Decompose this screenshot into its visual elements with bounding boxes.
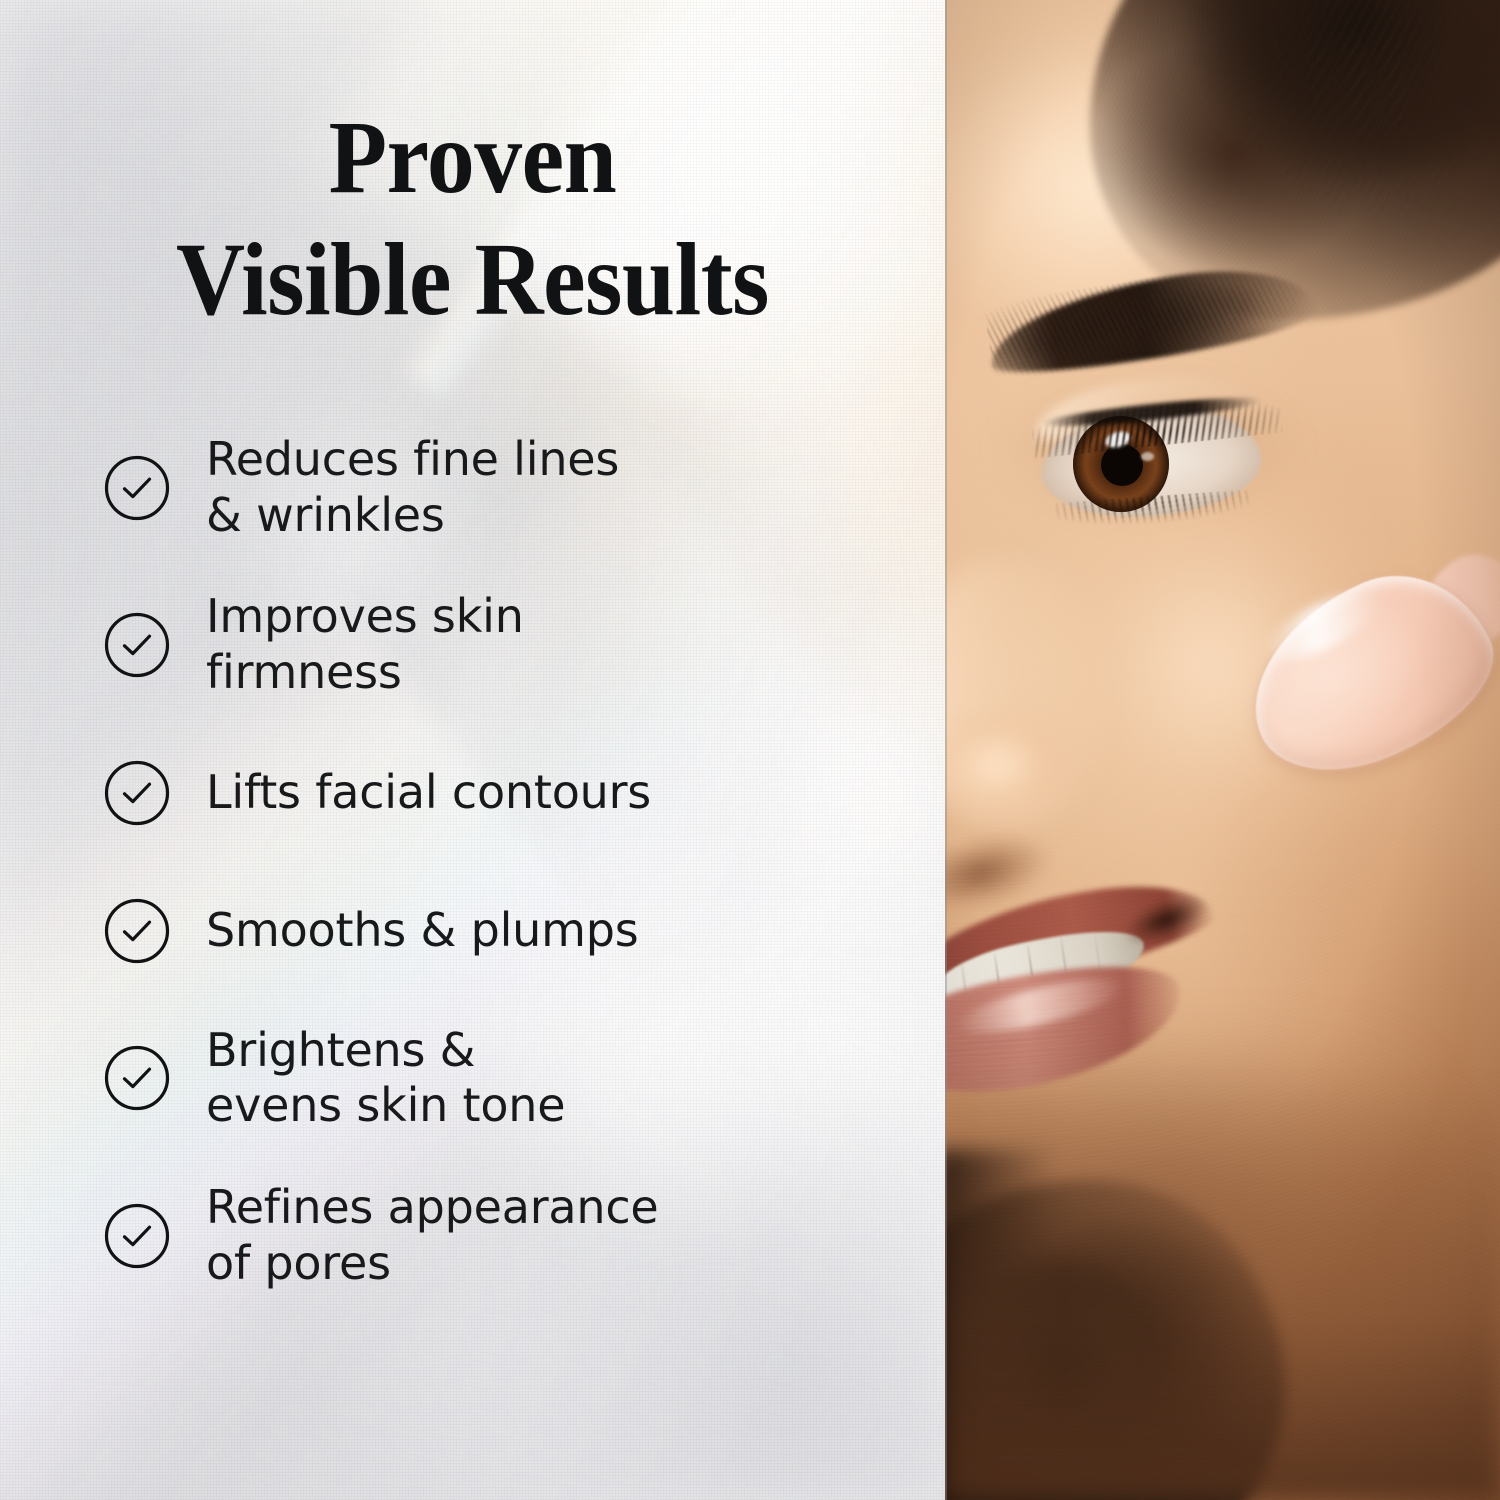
page-title: Proven Visible Results	[0, 104, 945, 334]
benefit-label: Reduces fine lines & wrinkles	[206, 432, 619, 543]
check-circle-icon	[104, 612, 170, 678]
headline-line-2: Visible Results	[38, 226, 907, 334]
check-circle-icon	[104, 898, 170, 964]
check-circle-icon	[104, 455, 170, 521]
check-circle-icon	[104, 1203, 170, 1269]
list-item: Smooths & plumps	[104, 885, 904, 977]
benefit-label: Smooths & plumps	[206, 903, 638, 959]
benefits-panel: Proven Visible Results Reduces fine line…	[0, 0, 945, 1500]
benefit-label: Brightens & evens skin tone	[206, 1023, 565, 1134]
panel-content: Proven Visible Results Reduces fine line…	[0, 0, 945, 1500]
list-item: Refines appearance of pores	[104, 1180, 904, 1291]
list-item: Brightens & evens skin tone	[104, 1023, 904, 1134]
promo-image-canvas: Proven Visible Results Reduces fine line…	[0, 0, 1500, 1500]
list-item: Lifts facial contours	[104, 747, 904, 839]
benefit-label: Improves skin firmness	[206, 589, 524, 700]
benefit-label: Lifts facial contours	[206, 765, 651, 821]
check-circle-icon	[104, 1045, 170, 1111]
benefits-list: Reduces fine lines & wrinkles Improves s…	[104, 432, 904, 1291]
photo-vignette	[945, 0, 1500, 1500]
check-circle-icon	[104, 760, 170, 826]
list-item: Improves skin firmness	[104, 589, 904, 700]
benefit-label: Refines appearance of pores	[206, 1180, 659, 1291]
panel-photo-divider	[945, 0, 947, 1500]
headline-line-1: Proven	[38, 104, 907, 212]
list-item: Reduces fine lines & wrinkles	[104, 432, 904, 543]
model-photo	[945, 0, 1500, 1500]
